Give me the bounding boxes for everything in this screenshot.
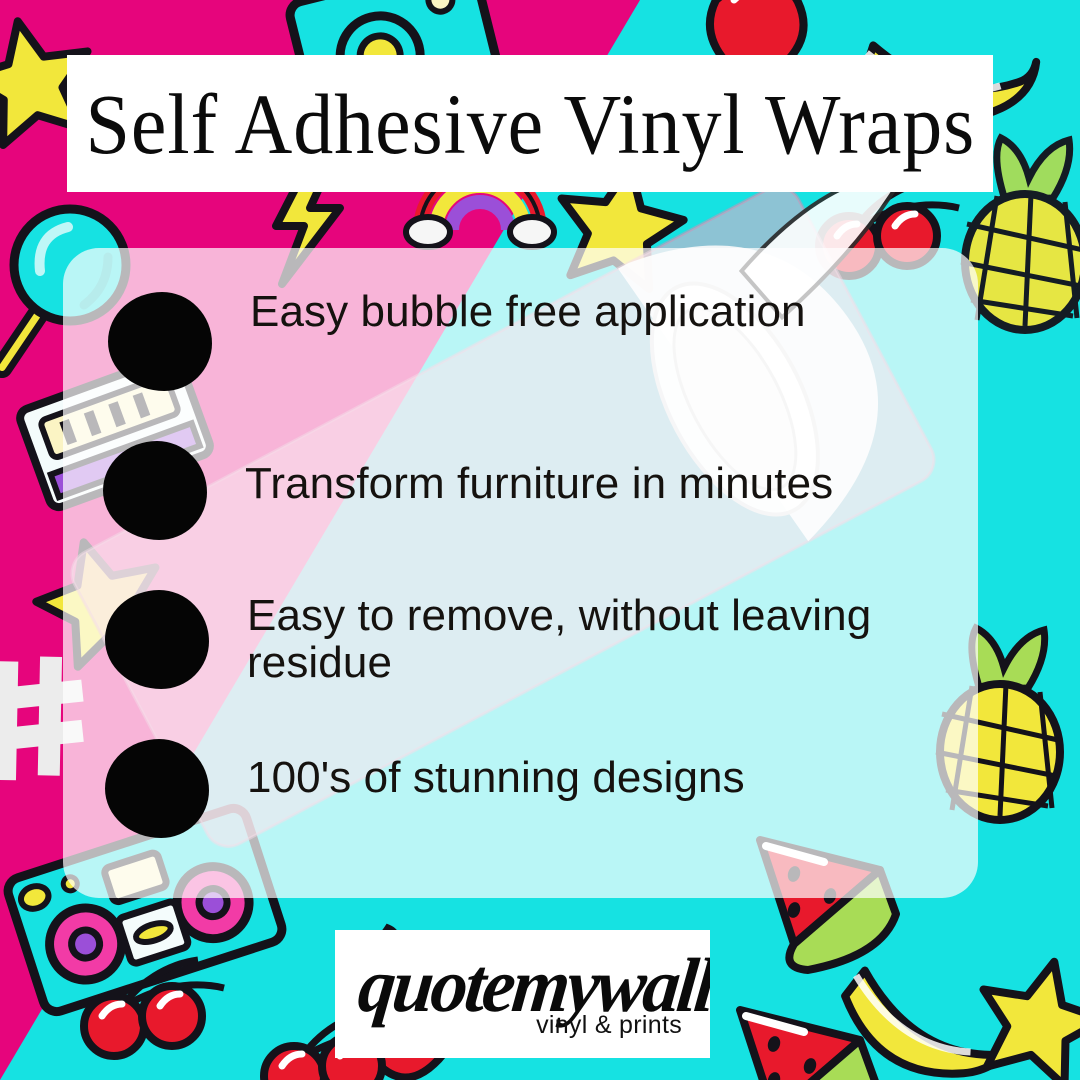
poster-canvas: Self Adhesive Vinyl Wraps Easy bubble fr… [0,0,1080,1080]
list-item-label: 100's of stunning designs [247,754,745,801]
filled-circle-bullet-icon [103,441,207,540]
list-item: Transform furniture in minutes [63,434,978,583]
list-item: Easy to remove, without leaving residue [63,583,978,732]
list-item: Easy bubble free application [63,285,978,434]
list-item-label: Transform furniture in minutes [245,460,833,507]
filled-circle-bullet-icon [105,739,209,838]
list-item-label: Easy bubble free application [250,288,806,335]
brand-logo-banner: quotemywall vinyl & prints [335,930,710,1058]
title-banner: Self Adhesive Vinyl Wraps [67,55,993,192]
benefits-list: Easy bubble free application Transform f… [63,248,978,898]
filled-circle-bullet-icon [108,292,212,391]
list-item-label: Easy to remove, without leaving residue [247,592,887,686]
brand-tagline: vinyl & prints [536,1011,682,1040]
filled-circle-bullet-icon [105,590,209,689]
page-title: Self Adhesive Vinyl Wraps [85,81,975,167]
list-item: 100's of stunning designs [63,732,978,881]
